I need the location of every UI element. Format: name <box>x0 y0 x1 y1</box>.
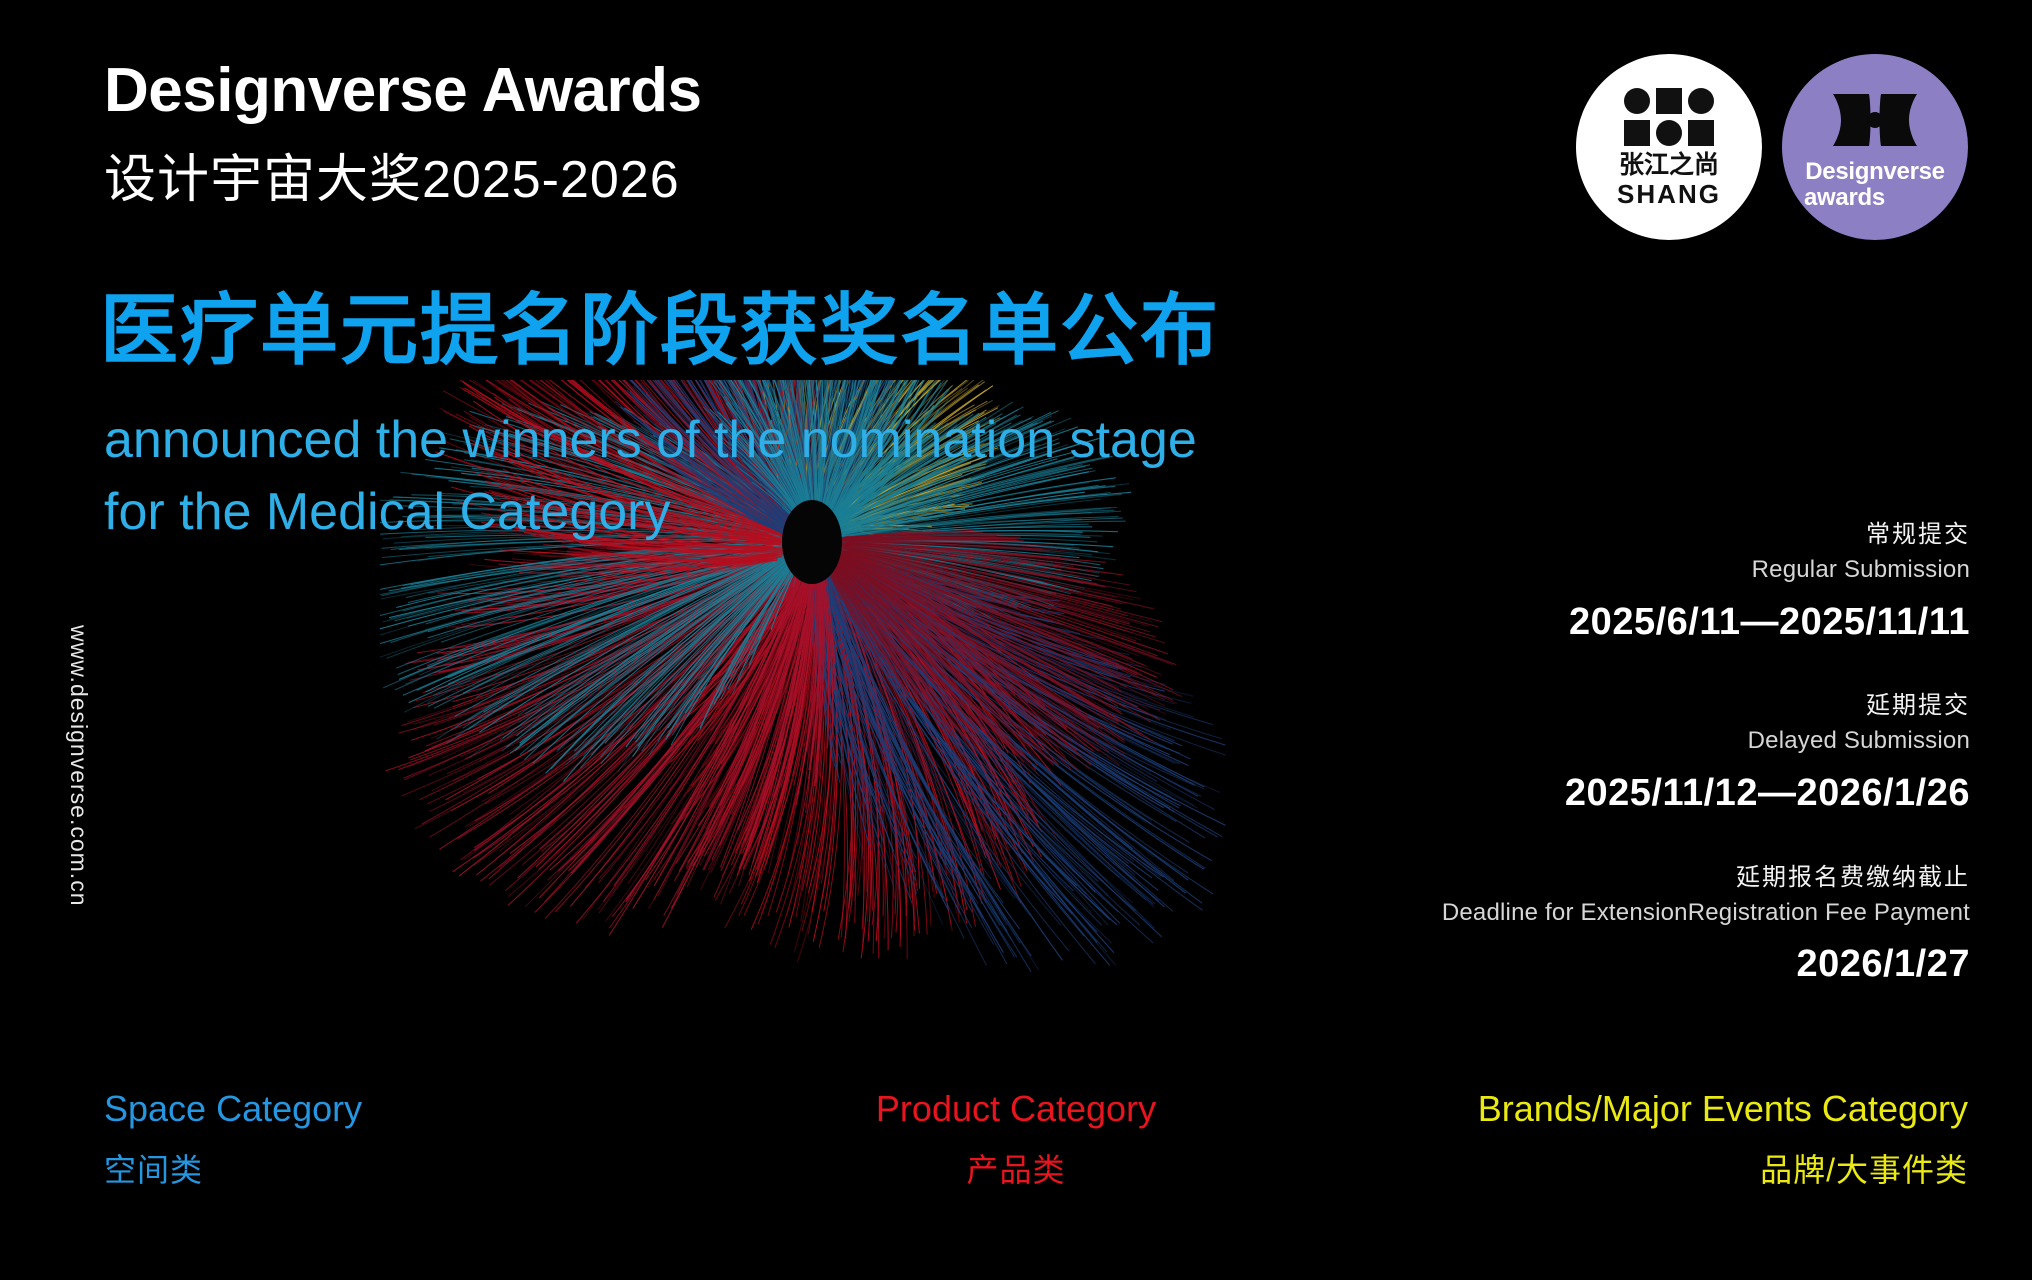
date-label-cn: 延期报名费缴纳截止 <box>1330 861 1970 896</box>
headline-cn: 医疗单元提名阶段获奖名单公布 <box>100 288 1220 372</box>
bowtie-icon <box>1821 90 1929 155</box>
date-block-delayed: 延期提交 Delayed Submission 2025/11/12—2026/… <box>1330 689 1970 814</box>
shang-mark-square-2 <box>1624 120 1650 146</box>
date-value: 2025/6/11—2025/11/11 <box>1330 602 1970 644</box>
date-label-cn: 延期提交 <box>1330 689 1970 724</box>
shang-mark-circle-2 <box>1688 88 1714 114</box>
date-label-cn: 常规提交 <box>1330 518 1970 553</box>
date-value: 2025/11/12—2026/1/26 <box>1330 773 1970 815</box>
logo-row: 张江之尚 SHANG Designverse awards <box>1576 54 1968 240</box>
shang-logo[interactable]: 张江之尚 SHANG <box>1576 54 1762 240</box>
shang-mark-square-3 <box>1688 120 1714 146</box>
category-brands-en: Brands/Major Events Category <box>1478 1090 1968 1128</box>
poster-canvas: Designverse Awards 设计宇宙大奖2025-2026 张江之尚 … <box>0 0 2032 1280</box>
category-footer: Space Category 空间类 Product Category 产品类 … <box>0 1090 2032 1220</box>
shang-logo-mark <box>1624 88 1714 146</box>
date-label-en: Regular Submission <box>1330 553 1970 588</box>
website-url-vertical[interactable]: www.designverse.com.cn <box>65 625 92 907</box>
shang-mark-square-1 <box>1656 88 1682 114</box>
headline-en-line1: announced the winners of the nomination … <box>104 405 1197 477</box>
shang-logo-en: SHANG <box>1617 181 1721 207</box>
shang-logo-cn: 张江之尚 <box>1619 153 1719 178</box>
category-brands[interactable]: Brands/Major Events Category 品牌/大事件类 <box>1478 1090 1968 1187</box>
designverse-logo-line2: awards <box>1804 185 1885 210</box>
date-value: 2026/1/27 <box>1330 944 1970 986</box>
shang-mark-circle-1 <box>1624 88 1650 114</box>
brand-title-cn: 设计宇宙大奖2025-2026 <box>104 152 680 209</box>
category-brands-cn: 品牌/大事件类 <box>1478 1154 1968 1188</box>
submission-dates-panel: 常规提交 Regular Submission 2025/6/11—2025/1… <box>1330 518 1970 986</box>
headline-en: announced the winners of the nomination … <box>104 405 1197 549</box>
date-label-en: Deadline for ExtensionRegistration Fee P… <box>1330 896 1970 931</box>
brand-title-en: Designverse Awards <box>104 58 702 123</box>
shang-mark-circle-3 <box>1656 120 1682 146</box>
date-block-regular: 常规提交 Regular Submission 2025/6/11—2025/1… <box>1330 518 1970 643</box>
designverse-logo-line1: Designverse <box>1805 159 1944 184</box>
designverse-awards-logo[interactable]: Designverse awards <box>1782 54 1968 240</box>
headline-en-line2: for the Medical Category <box>104 477 1197 549</box>
date-block-fee-deadline: 延期报名费缴纳截止 Deadline for ExtensionRegistra… <box>1330 861 1970 986</box>
date-label-en: Delayed Submission <box>1330 724 1970 759</box>
